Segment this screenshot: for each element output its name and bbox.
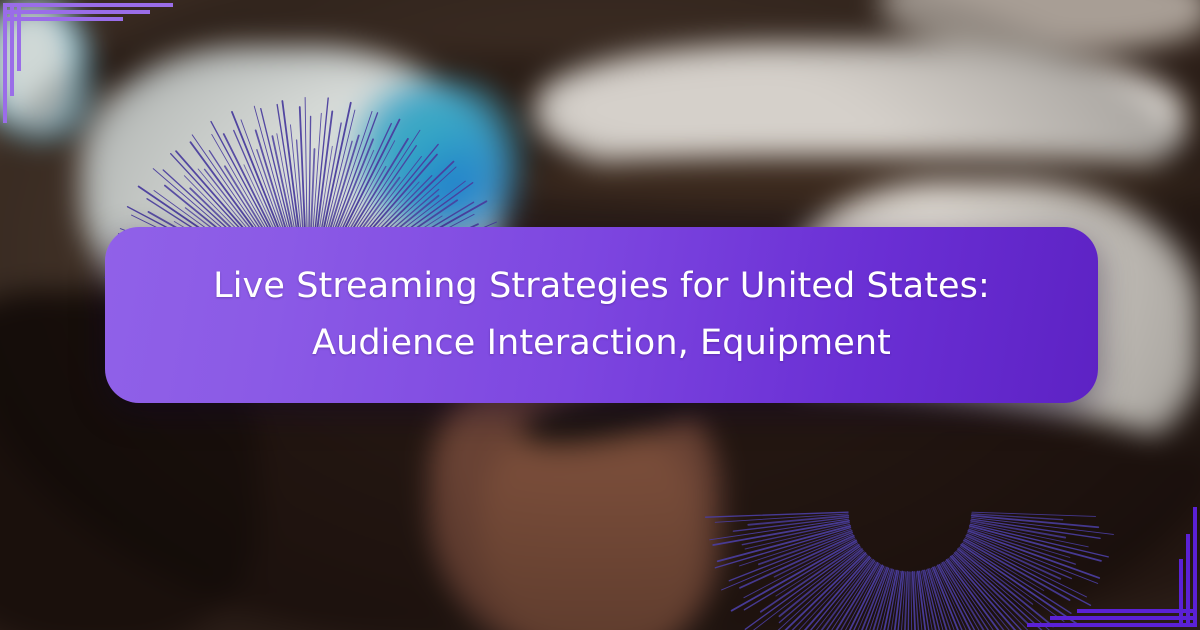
corner-line-v-2	[10, 3, 14, 96]
title-line-1: Live Streaming Strategies for United Sta…	[213, 258, 990, 315]
title-card: Live Streaming Strategies for United Sta…	[105, 227, 1098, 403]
corner-line-v-2	[1186, 534, 1190, 627]
corner-line-h-3	[3, 17, 123, 21]
corner-line-h-2	[3, 10, 150, 14]
corner-lines-bottom-right	[1020, 500, 1200, 630]
title-line-2: Audience Interaction, Equipment	[312, 315, 891, 372]
corner-line-h-2	[1050, 616, 1197, 620]
corner-lines-top-left	[0, 0, 180, 130]
corner-line-v-1	[1193, 507, 1197, 627]
corner-line-v-3	[1179, 559, 1183, 627]
corner-line-v-3	[17, 3, 21, 71]
corner-line-v-1	[3, 3, 7, 123]
corner-line-h-1	[1027, 623, 1197, 627]
social-card-canvas: Live Streaming Strategies for United Sta…	[0, 0, 1200, 630]
corner-line-h-1	[3, 3, 173, 7]
